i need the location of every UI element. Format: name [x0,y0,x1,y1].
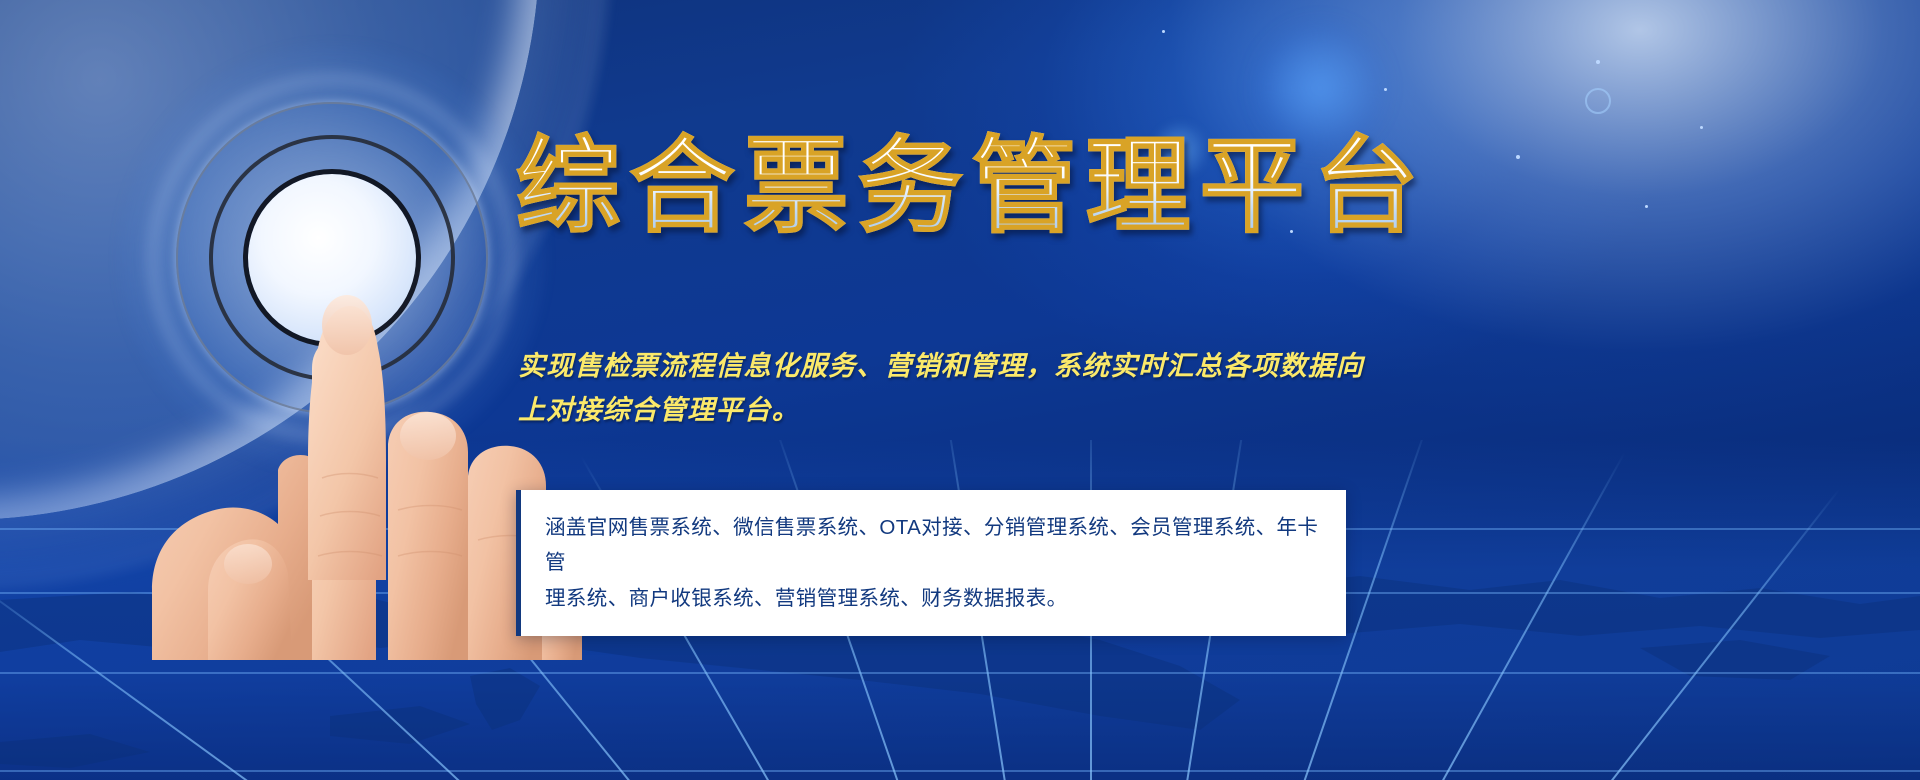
star-point [1645,205,1648,208]
feature-list-box: 涵盖官网售票系统、微信售票系统、OTA对接、分销管理系统、会员管理系统、年卡管 … [516,490,1346,636]
star-point [1162,30,1165,33]
bokeh-light-ring [1585,88,1611,114]
star-point [1700,126,1703,129]
page-title: 综合票务管理平台 [516,128,1428,249]
banner-subtitle: 实现售检票流程信息化服务、营销和管理，系统实时汇总各项数据向 上对接综合管理平台… [518,345,1378,432]
star-point [1516,155,1520,159]
star-point [1384,88,1387,91]
feature-list-line-1: 涵盖官网售票系统、微信售票系统、OTA对接、分销管理系统、会员管理系统、年卡管 [545,510,1320,581]
star-point [1596,60,1600,64]
banner-subtitle-line-2: 上对接综合管理平台。 [518,389,1378,433]
promo-banner: 综合票务管理平台 实现售检票流程信息化服务、营销和管理，系统实时汇总各项数据向 … [0,0,1920,780]
feature-list-line-2: 理系统、商户收银系统、营销管理系统、财务数据报表。 [545,581,1320,616]
pointing-hand-icon [112,160,582,660]
banner-subtitle-line-1: 实现售检票流程信息化服务、营销和管理，系统实时汇总各项数据向 [518,345,1378,389]
